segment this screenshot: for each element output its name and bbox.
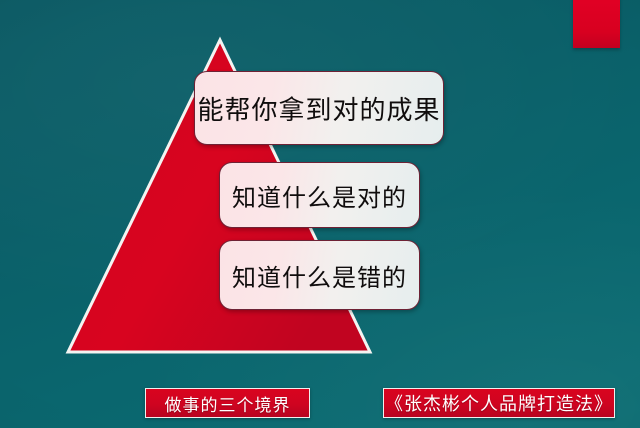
title-banner-left: 做事的三个境界 — [145, 388, 310, 418]
pyramid-step-label-middle: 知道什么是对的 — [232, 178, 407, 213]
pyramid-step-label-bottom: 知道什么是错的 — [232, 258, 407, 293]
title-banner-left-label: 做事的三个境界 — [165, 391, 291, 416]
pyramid-step-box-middle[interactable]: 知道什么是对的 — [219, 162, 420, 228]
title-banner-right: 《张杰彬个人品牌打造法》 — [383, 388, 615, 418]
pyramid-step-box-top[interactable]: 能帮你拿到对的成果 — [194, 71, 444, 145]
pyramid-step-box-bottom[interactable]: 知道什么是错的 — [219, 240, 420, 310]
pyramid-step-label-top: 能帮你拿到对的成果 — [197, 90, 440, 127]
slide-canvas: 能帮你拿到对的成果 知道什么是对的 知道什么是错的 做事的三个境界 《张杰彬个人… — [0, 0, 640, 428]
corner-accent-block — [573, 0, 620, 48]
title-banner-right-label: 《张杰彬个人品牌打造法》 — [385, 390, 613, 416]
